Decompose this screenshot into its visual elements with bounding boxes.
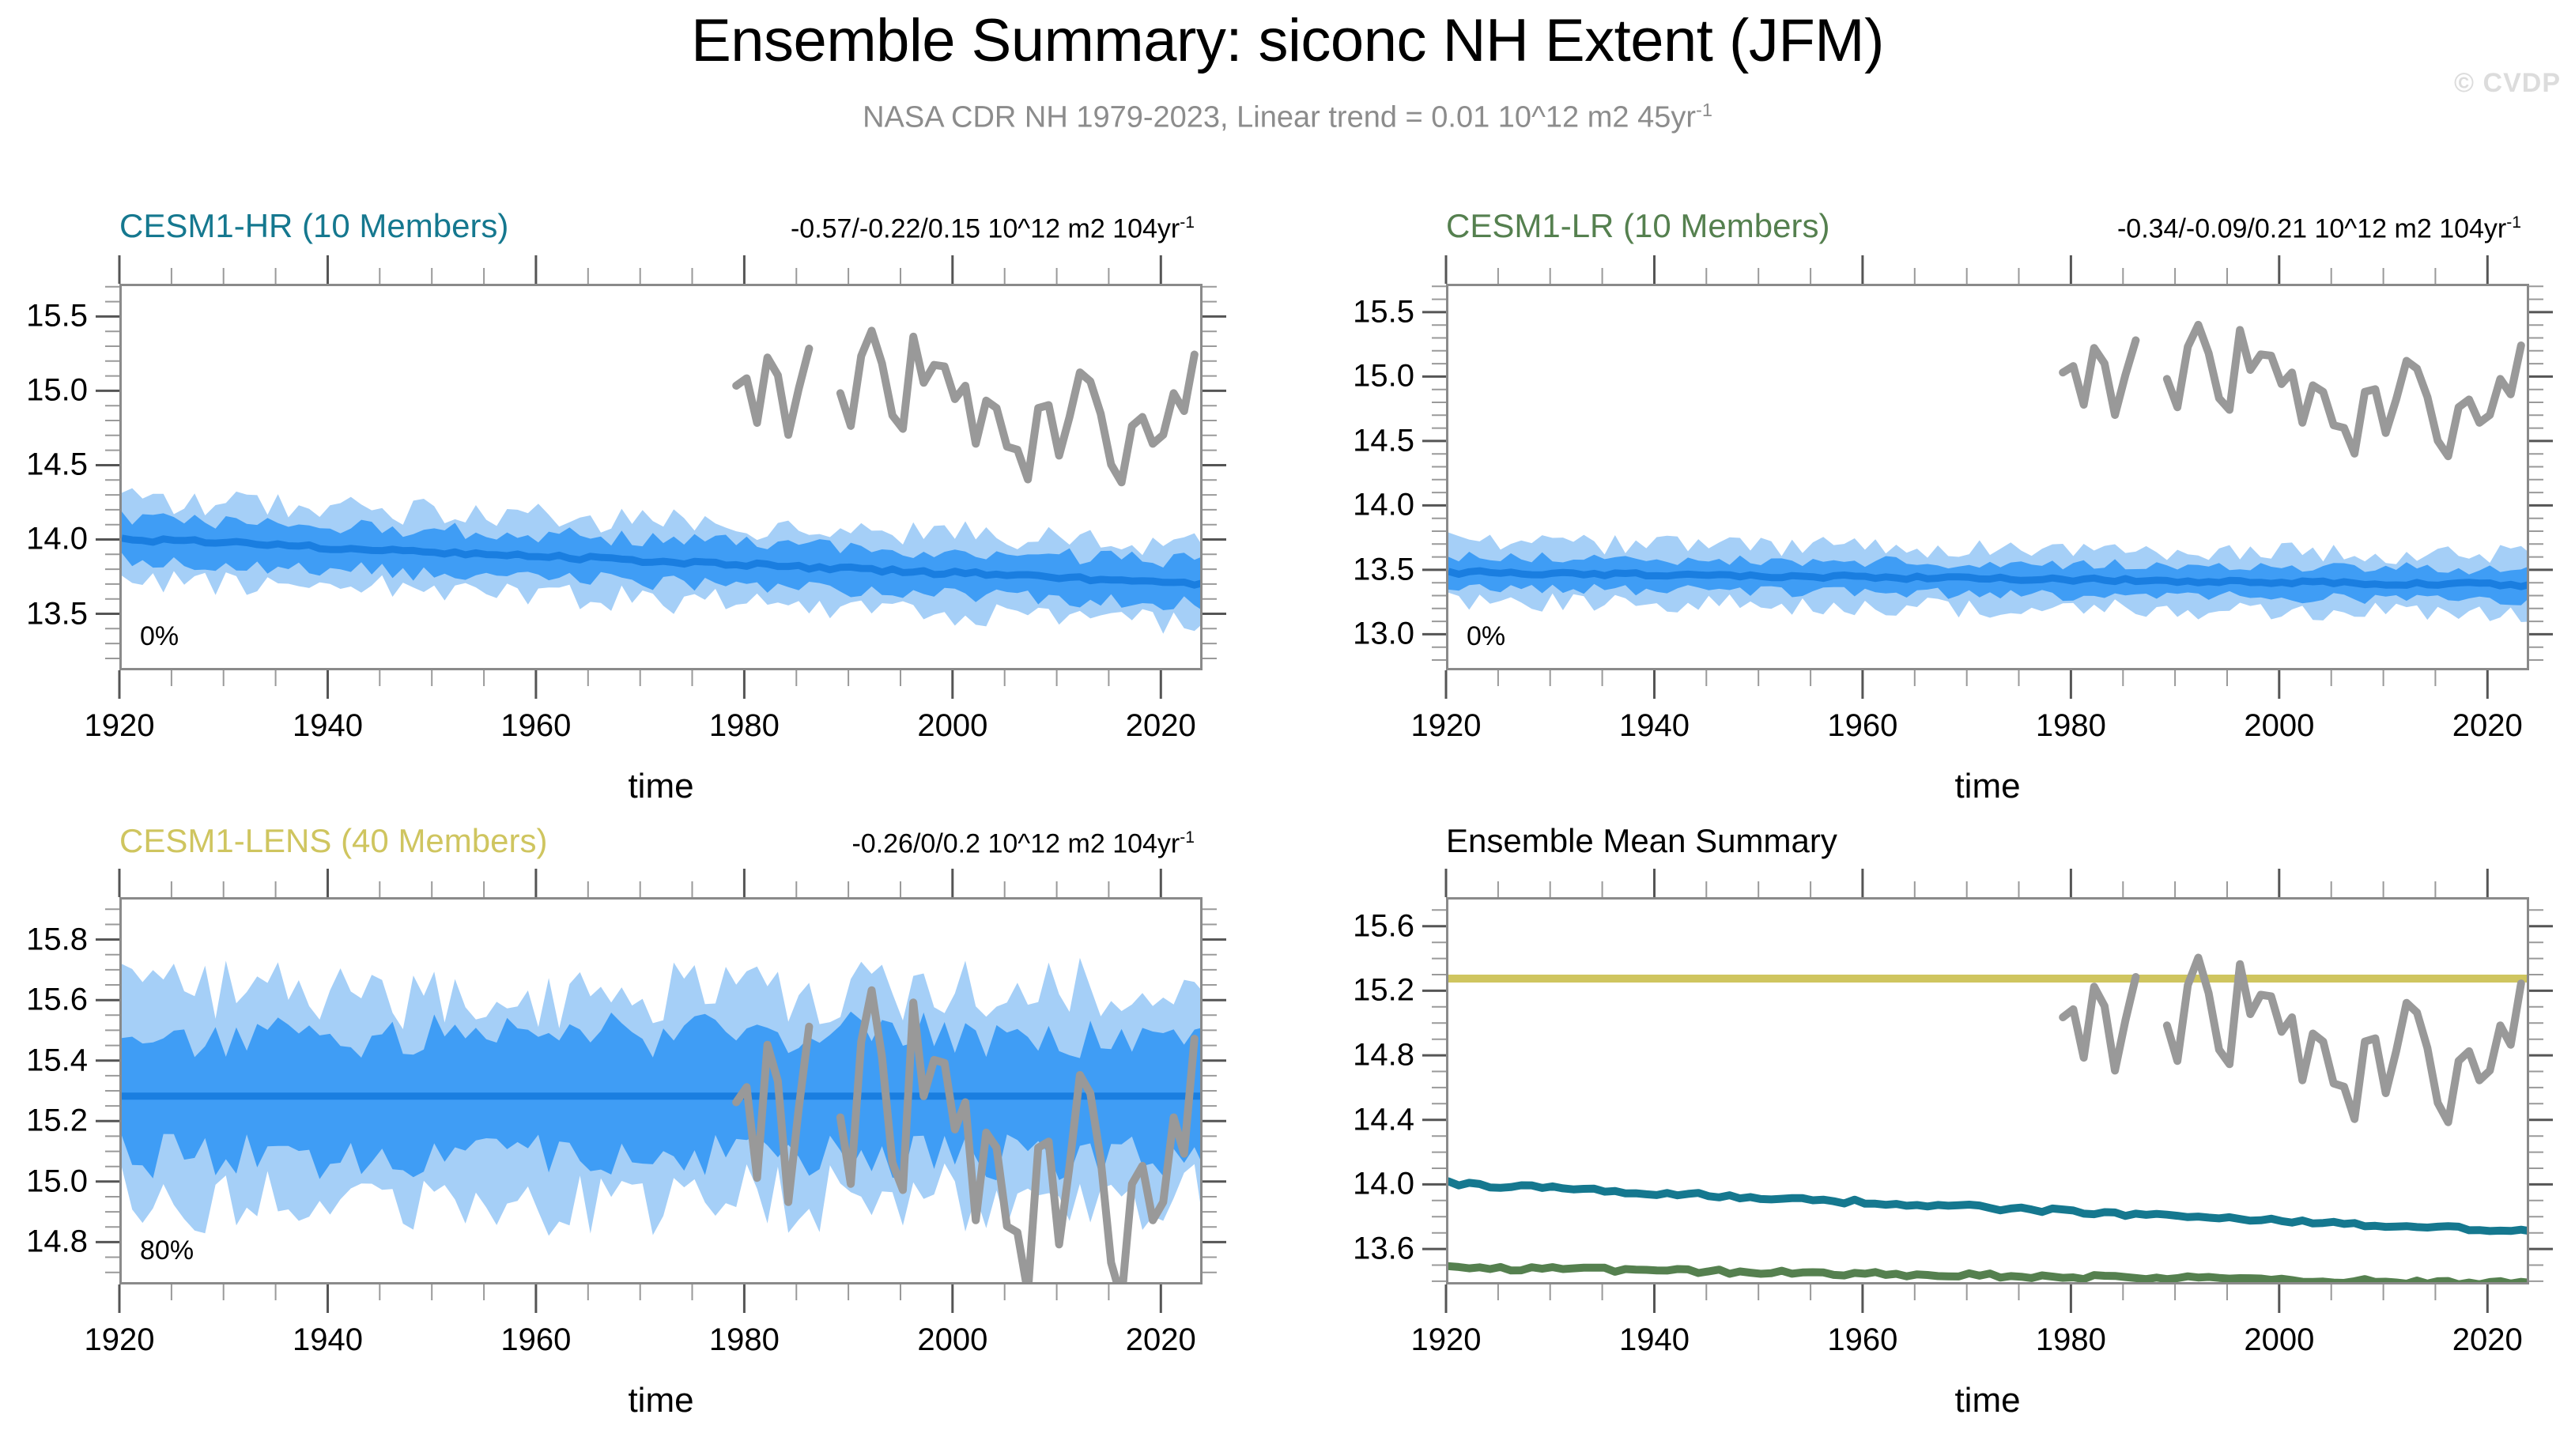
y-tick-label-ensemble-mean: 14.0 [1296,1167,1414,1202]
y-tick-label-ensemble-mean: 15.2 [1296,973,1414,1009]
x-tick-label-ensemble-mean: 2000 [2244,1322,2314,1358]
x-tick-label-ensemble-mean: 1980 [2036,1322,2106,1358]
x-axis-title-ensemble-mean: time [1954,1381,2020,1420]
panel-ensemble-mean: Ensemble Mean Summary13.614.014.414.815.… [0,0,2575,1456]
y-tick-label-ensemble-mean: 15.6 [1296,908,1414,944]
x-tick-label-ensemble-mean: 1920 [1411,1322,1482,1358]
y-tick-label-ensemble-mean: 14.4 [1296,1102,1414,1137]
x-tick-label-ensemble-mean: 1960 [1827,1322,1897,1358]
panel-title-ensemble-mean: Ensemble Mean Summary [1446,822,1837,860]
y-tick-label-ensemble-mean: 14.8 [1296,1038,1414,1073]
figure-root: Ensemble Summary: siconc NH Extent (JFM)… [0,0,2575,1456]
x-tick-label-ensemble-mean: 1940 [1619,1322,1690,1358]
observation-line-ensemble-mean-seg0 [2063,977,2135,1070]
plot-canvas-ensemble-mean [1448,900,2529,1284]
mean-line-cesm1-hr [1448,1182,2529,1232]
y-tick-label-ensemble-mean: 13.6 [1296,1232,1414,1267]
mean-line-cesm1-lr [1448,1266,2529,1284]
x-tick-label-ensemble-mean: 2020 [2452,1322,2523,1358]
plot-area-ensemble-mean [1446,897,2529,1284]
